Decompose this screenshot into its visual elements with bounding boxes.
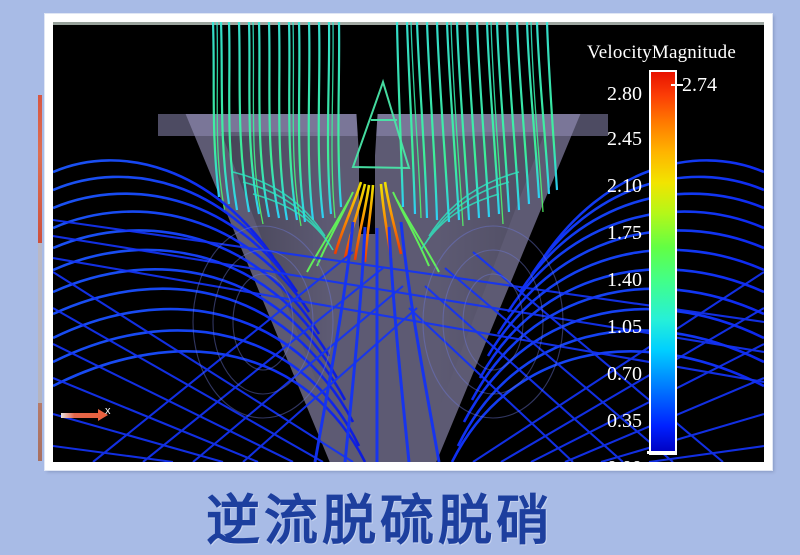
left-edge-strip-mid[interactable] [38, 243, 42, 403]
legend-tick-labels: 2.80 2.45 2.10 1.75 1.40 1.05 0.70 0.35 … [564, 62, 642, 462]
legend-tick: 1.05 [607, 317, 642, 337]
legend-tick: 0.70 [607, 364, 642, 384]
x-axis-arrow-icon [61, 413, 99, 418]
render-canvas[interactable]: x VelocityMagnitude 2.80 2.45 2.10 1.75 … [53, 22, 764, 462]
color-legend: VelocityMagnitude 2.80 2.45 2.10 1.75 1.… [504, 22, 764, 462]
colorbar-min-label: 0.00 [682, 459, 717, 462]
colorbar-min-tick [647, 451, 675, 454]
axis-indicator: x [61, 404, 131, 426]
legend-tick: 2.10 [607, 176, 642, 196]
legend-tick: 2.45 [607, 129, 642, 149]
legend-tick: 1.40 [607, 270, 642, 290]
left-edge-red-strip[interactable] [38, 95, 42, 243]
slide: x VelocityMagnitude 2.80 2.45 2.10 1.75 … [0, 0, 800, 542]
colorbar[interactable] [649, 70, 677, 455]
legend-tick: 0.35 [607, 411, 642, 431]
axis-label-x: x [105, 405, 111, 417]
slide-caption: 逆流脱硫脱硝 [0, 476, 760, 555]
legend-tick: 0.00 [607, 458, 642, 462]
legend-title: VelocityMagnitude [587, 42, 736, 64]
colorbar-max-label: 2.74 [682, 75, 717, 95]
visualization-frame: x VelocityMagnitude 2.80 2.45 2.10 1.75 … [45, 14, 772, 470]
legend-tick: 2.80 [607, 84, 642, 104]
legend-tick: 1.75 [607, 223, 642, 243]
central-descending-streamlines [315, 222, 439, 462]
left-edge-strip-lower[interactable] [38, 403, 42, 461]
